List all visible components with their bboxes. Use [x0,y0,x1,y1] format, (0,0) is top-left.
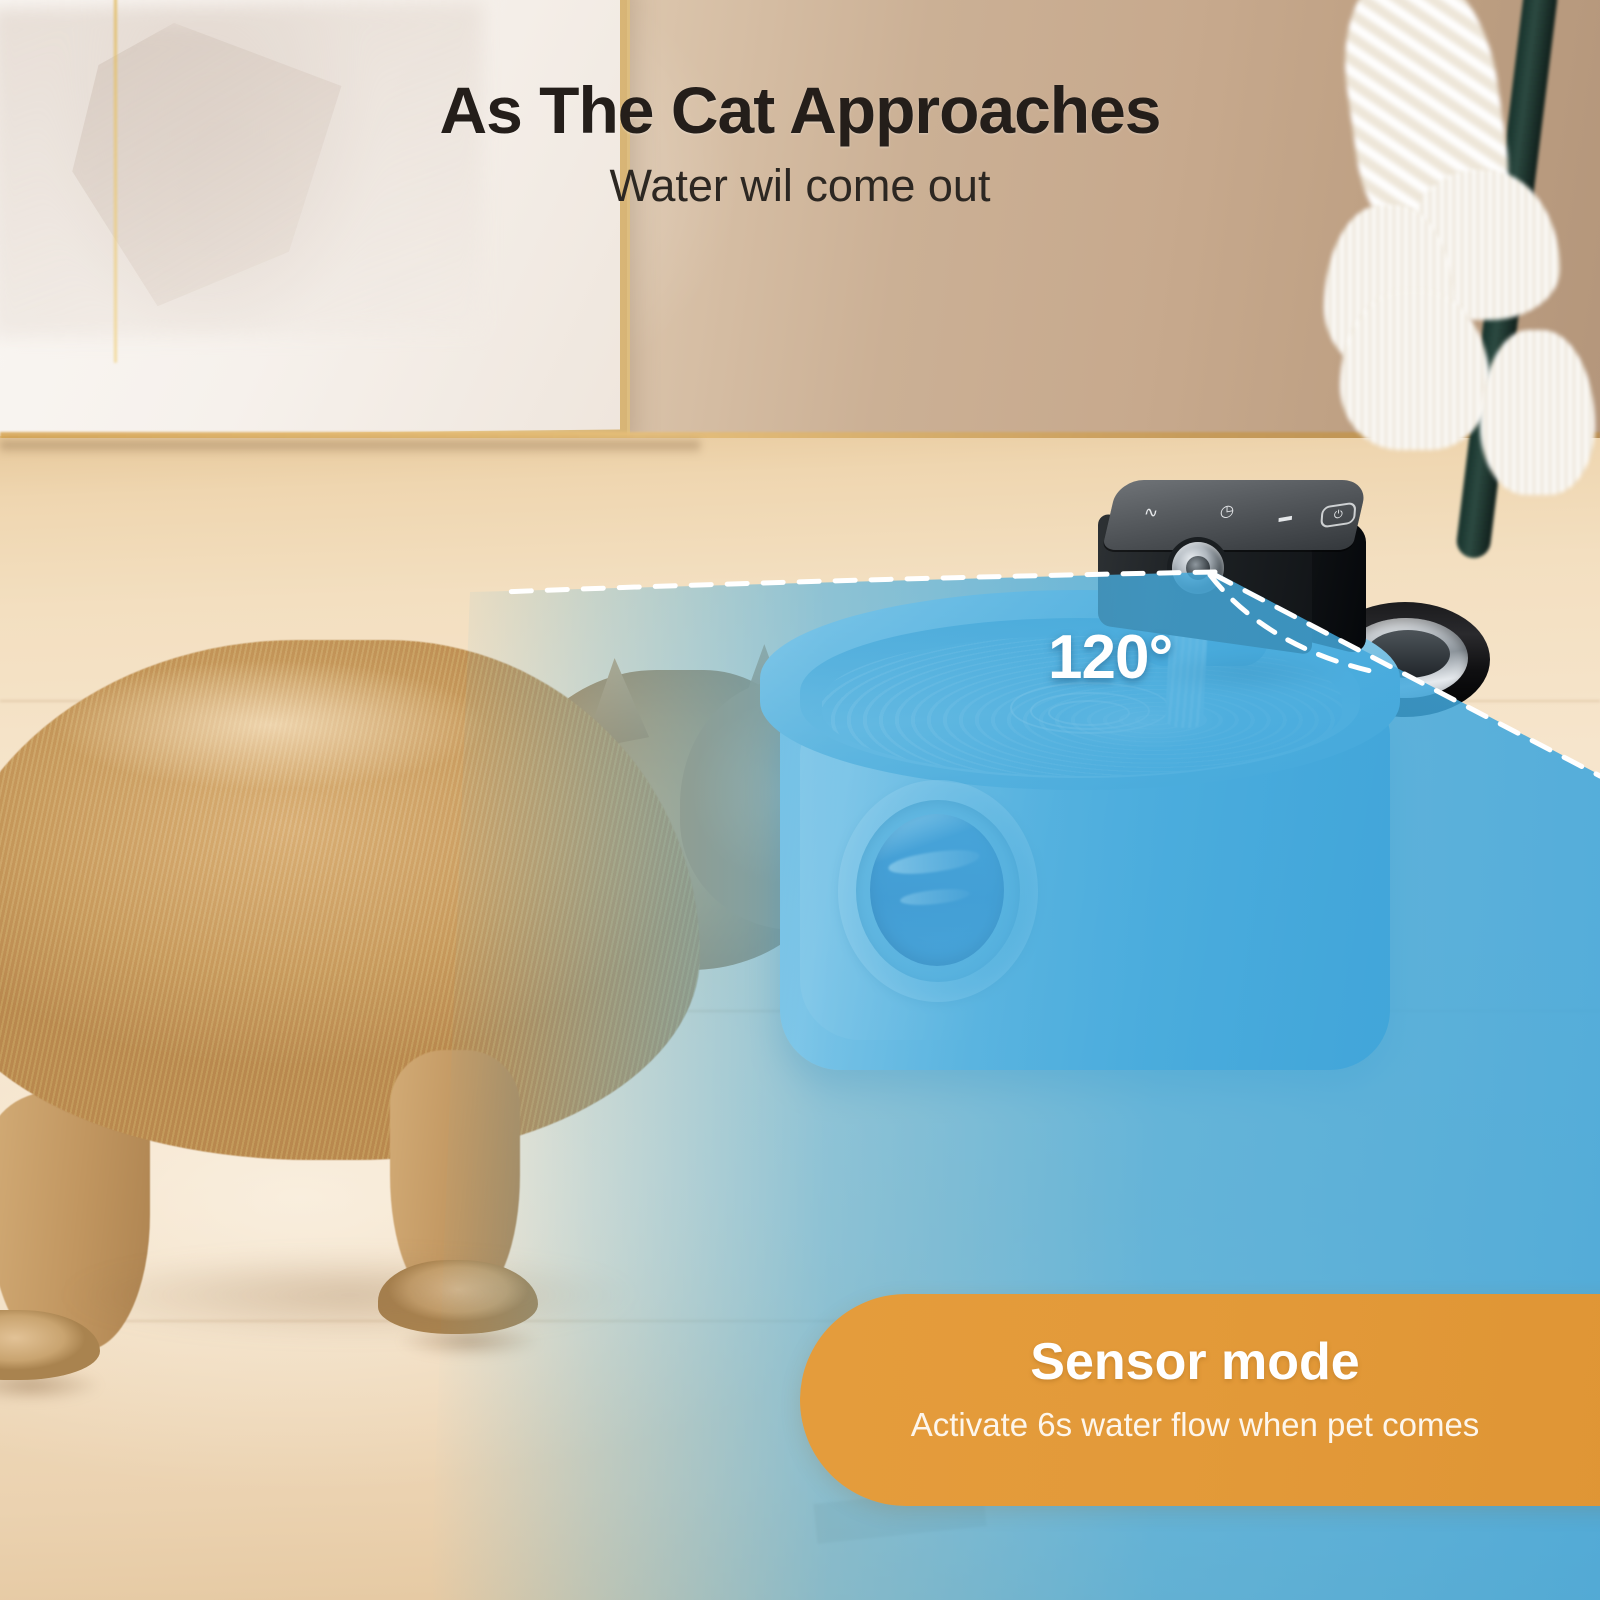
artwork-frame-edge [0,0,630,449]
product-scene: ∿ ◷ ▬ ⏻ [0,0,1600,1600]
cat-back-highlight [10,650,530,800]
page-subtitle: Water wil come out [0,160,1600,212]
ir-sensor-pupil [1186,556,1210,580]
page-title: As The Cat Approaches [0,72,1600,148]
control-icon-row: ∿ ◷ ▬ ⏻ [1122,488,1357,536]
battery-icon[interactable]: ▬ [1278,509,1292,524]
water-flow-icon[interactable]: ∿ [1143,503,1157,523]
banner-title: Sensor mode [800,1332,1590,1392]
macrame-tassel [1480,330,1595,495]
framed-artwork [0,0,630,449]
banner-subtitle: Activate 6s water flow when pet comes [800,1406,1590,1444]
cat-floor-shadow [0,1230,760,1360]
timer-icon[interactable]: ◷ [1220,503,1235,522]
sensor-mode-banner: Sensor mode Activate 6s water flow when … [800,1294,1600,1506]
wall-shadow [0,441,700,455]
detection-angle-label: 120° [1048,622,1172,693]
